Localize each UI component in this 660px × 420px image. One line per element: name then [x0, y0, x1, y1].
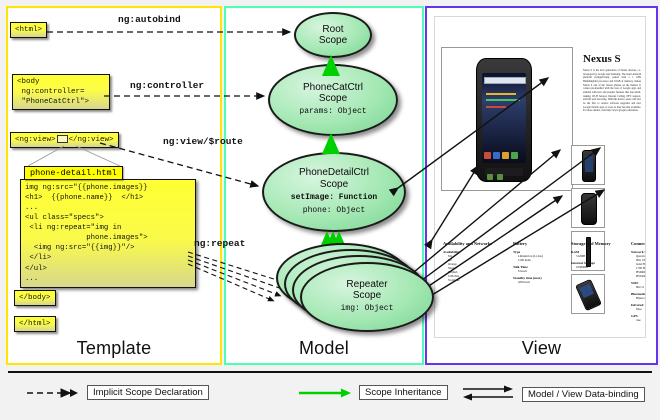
scope-phonedetailctrl-field-setimage: setImage: Function: [291, 193, 377, 203]
app-icon-1: [484, 152, 491, 159]
phone-hero-image: [476, 58, 532, 182]
thumbnail-phone-front[interactable]: [571, 145, 605, 185]
legend-item-data-binding: Model / View Data-binding: [461, 385, 645, 403]
legend-green-arrow-icon: [298, 387, 352, 399]
spec-value: Vodafone: [448, 278, 495, 282]
spec-values-battery-type: Lithium Ion (Li-Ion) 1500 mAh: [513, 254, 567, 262]
spec-values-availability: M1 O2 Orange Singtel Starhub T-Mobile Vo…: [443, 254, 495, 282]
callout-filename: phone-detail.html: [24, 166, 123, 180]
spec-value: 1500 mAh: [518, 258, 567, 262]
thumbnail-phone-back[interactable]: [571, 188, 605, 228]
spec-value: Quad-band GSM: 850,: [636, 254, 646, 258]
phone-urlbar: [484, 77, 526, 84]
scope-phonecatctrl: PhoneCatCtrlScope params: Object: [268, 64, 398, 136]
scope-repeater-field-img: img: Object: [341, 304, 394, 314]
legend-double-arrow-icon: [461, 385, 515, 403]
scope-phonedetailctrl: PhoneDetailCtrlScope setImage: Function …: [262, 152, 406, 232]
legend-divider: [8, 371, 652, 373]
legend-dashed-arrow-icon: [26, 387, 80, 399]
thumb-back-glyph: [581, 193, 597, 225]
spec-value: 802.11 b/g/n: [636, 285, 646, 289]
spec-values-internal-storage: 16384MB: [571, 265, 629, 269]
app-icon-3: [502, 152, 509, 159]
scope-repeater: RepeaterScope img: Object: [300, 262, 434, 332]
ngview-open-text: <ng:view>: [15, 136, 56, 144]
code-tag-body-close: </body>: [14, 290, 56, 306]
thumb-front-glyph: [582, 150, 596, 182]
spec-value: 16384MB: [576, 265, 629, 269]
phone-screen-line-2: [486, 99, 520, 101]
spec-values-battery-standby: 428 hours: [513, 280, 567, 284]
spec-values-wifi: 802.11 b/g/n: [631, 285, 646, 289]
view-phone-title: Nexus S: [583, 53, 621, 65]
legend-item-implicit-scope: Implicit Scope Declaration: [26, 385, 209, 400]
soft-button-2: [497, 174, 503, 180]
app-icon-4: [511, 152, 518, 159]
spec-heading-storage: Storage and Memory: [571, 241, 629, 247]
legend-label-scope-inheritance: Scope Inheritance: [359, 385, 448, 400]
spec-value: 512MB: [576, 254, 629, 258]
diagram-canvas: Template Model View <html> <body ng:cont…: [0, 0, 660, 420]
spec-value: Bluetooth 2.1: [636, 296, 646, 300]
spec-heading-availability: Availability and Networks: [443, 241, 495, 247]
legend-label-implicit-scope: Implicit Scope Declaration: [87, 385, 209, 400]
scope-repeater-label: RepeaterScope: [346, 279, 387, 301]
code-tag-body-open: <body ng:controller= "PhoneCatCtrl">: [12, 74, 110, 110]
panel-model-title: Model: [226, 338, 422, 359]
view-phone-description: Nexus S is the next generation of Nexus …: [583, 69, 641, 113]
spec-value: false: [636, 307, 646, 311]
spec-column-availability: Availability and Networks Availability M…: [443, 241, 495, 282]
spec-value: 900, 1800, 1900 Tri-: [636, 258, 646, 262]
spec-value: 428 hours: [518, 280, 567, 284]
thumb-angled-screen: [579, 284, 594, 299]
scope-phonecatctrl-field-params: params: Object: [299, 107, 366, 117]
spec-column-battery: Battery Type Lithium Ion (Li-Ion) 1500 m…: [513, 241, 567, 284]
spec-values-infrared: false: [631, 307, 646, 311]
rendered-view-page: Nexus S Nexus S is the next generation o…: [434, 16, 646, 338]
soft-button-1: [487, 174, 493, 180]
template-callout: phone-detail.html img ng:src="{{phone.im…: [20, 162, 196, 288]
callout-code: img ng:src="{{phone.images}} <h1> {{phon…: [20, 179, 196, 288]
app-icon-2: [493, 152, 500, 159]
spec-values-battery-talktime: 6 hours: [513, 269, 567, 273]
panel-template-title: Template: [8, 338, 220, 359]
phone-hero-frame: [441, 47, 573, 191]
spec-sublabel-network-support: Network Support: [631, 250, 646, 254]
legend-item-scope-inheritance: Scope Inheritance: [298, 385, 448, 400]
spec-value: 6 hours: [518, 269, 567, 273]
edge-label-controller: ng:controller: [130, 80, 204, 91]
legend-label-data-binding: Model / View Data-binding: [522, 387, 645, 402]
legend: Implicit Scope Declaration Scope Inherit…: [8, 371, 652, 415]
phone-screen-line-1: [486, 93, 516, 95]
spec-column-storage: Storage and Memory RAM 512MB Internal St…: [571, 241, 629, 269]
thumb-front-screen: [585, 156, 593, 172]
code-tag-html-close: </html>: [14, 316, 56, 332]
code-tag-ngview: <ng:view></ng:view>: [10, 132, 119, 148]
spec-heading-connectivity: Connectivity: [631, 241, 646, 247]
phone-soft-buttons: [485, 168, 523, 176]
spec-values-bluetooth: Bluetooth 2.1: [631, 296, 646, 300]
spec-values-ram: 512MB: [571, 254, 629, 258]
scope-phonedetailctrl-label: PhoneDetailCtrlScope: [299, 167, 369, 189]
spec-column-connectivity: Connectivity Network Support Quad-band G…: [631, 241, 646, 322]
panel-view-title: View: [427, 338, 656, 359]
spec-value: true: [636, 318, 646, 322]
phone-screen-line-3: [486, 106, 506, 108]
spec-values-network-support: Quad-band GSM: 850, 900, 1800, 1900 Tri-…: [631, 254, 646, 278]
spec-heading-battery: Battery: [513, 241, 567, 247]
phone-app-icons: [484, 146, 524, 155]
scope-root-label: RootScope: [319, 24, 347, 46]
thumb-angled-glyph: [575, 279, 602, 311]
ngview-slot-icon: [57, 135, 68, 143]
scope-root: RootScope: [294, 12, 372, 58]
spec-value: HSUPA (5.76Mbps): [636, 274, 646, 278]
ngview-close-text: </ng:view>: [69, 136, 114, 144]
scope-phonecatctrl-label: PhoneCatCtrlScope: [303, 82, 363, 104]
spec-values-gps: true: [631, 318, 646, 322]
code-tag-html-open: <html>: [10, 22, 47, 38]
edge-label-ngrepeat: ng:repeat: [194, 238, 245, 249]
edge-label-ngview: ng:view/$route: [163, 136, 243, 147]
scope-phonedetailctrl-field-phone: phone: Object: [303, 206, 365, 216]
edge-label-autobind: ng:autobind: [118, 14, 181, 25]
thumbnail-phone-angled[interactable]: [571, 274, 605, 314]
